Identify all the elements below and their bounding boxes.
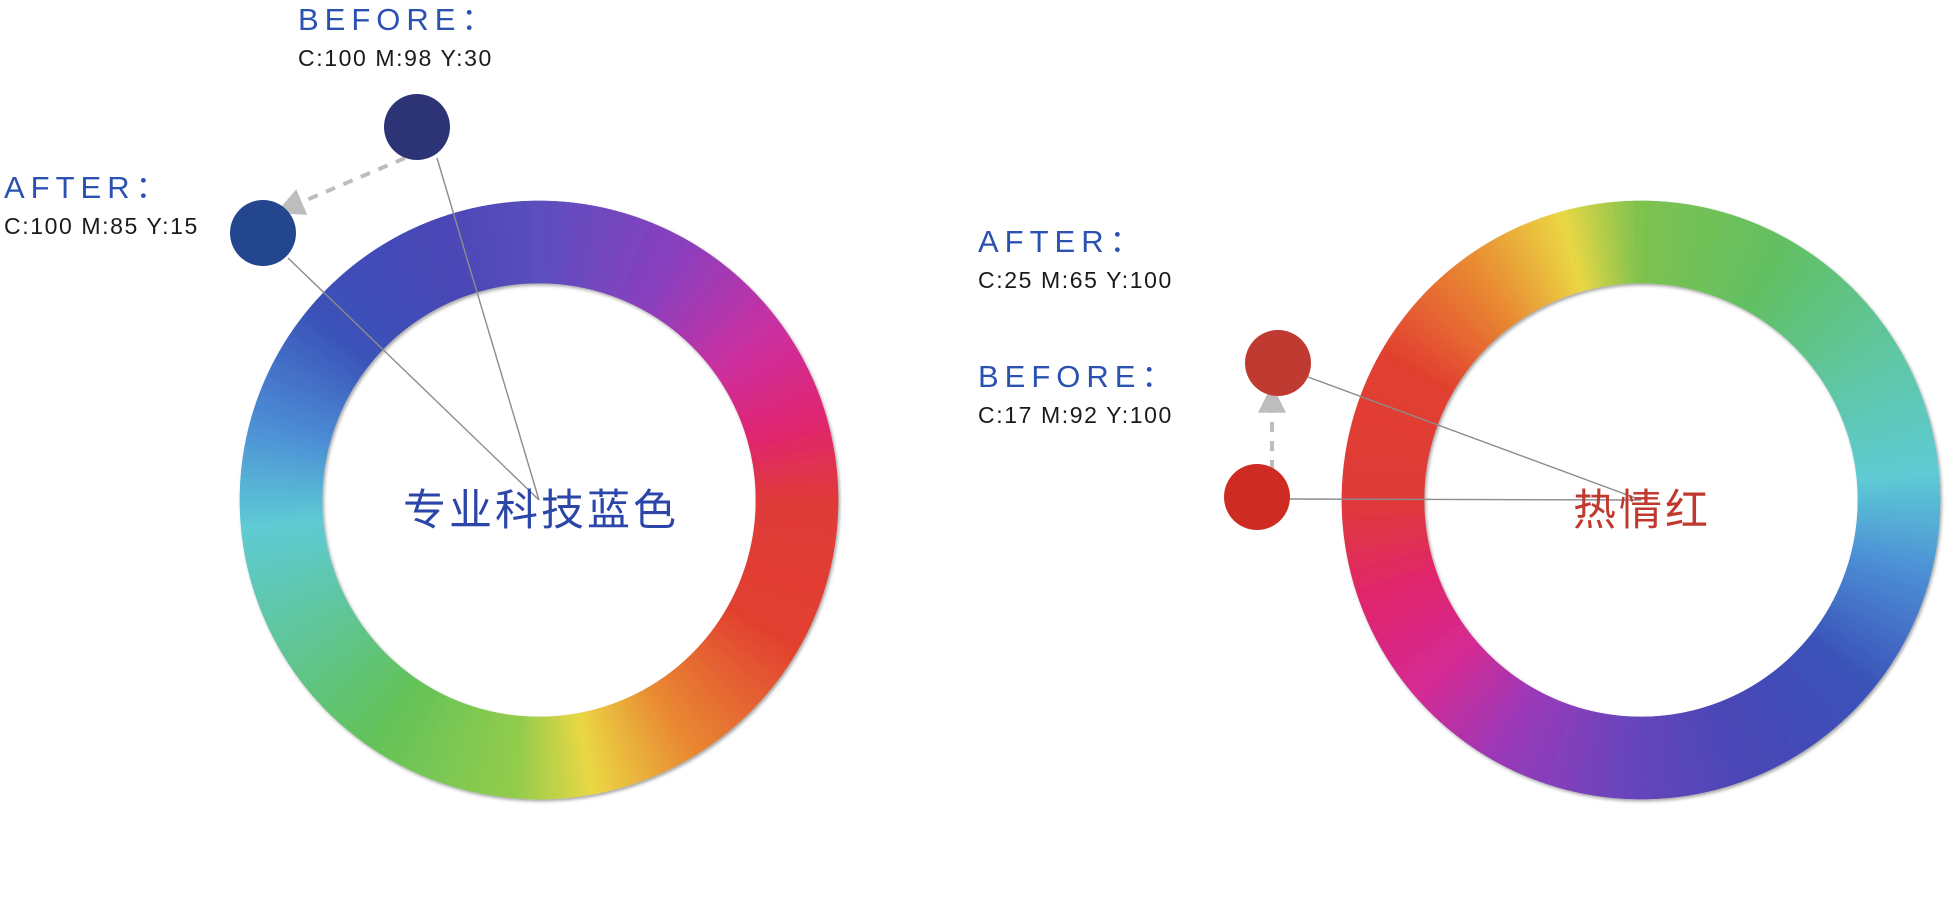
- annotation-red-before: BEFORE： C:17 M:92 Y:100: [978, 359, 1178, 429]
- annotation-blue-before: BEFORE： C:100 M:98 Y:30: [298, 2, 498, 72]
- color-wheel-comparison-canvas: BEFORE： C:100 M:98 Y:30 AFTER： C:100 M:8…: [0, 0, 1949, 919]
- label-heading-blue-before: BEFORE：: [298, 2, 498, 39]
- color-wheel-artwork: [0, 0, 1949, 919]
- label-heading-red-before: BEFORE：: [978, 359, 1178, 396]
- label-cmyk-red-before: C:17 M:92 Y:100: [978, 401, 1178, 430]
- swatch-dot-red-after[interactable]: [1245, 330, 1311, 396]
- label-cmyk-blue-before: C:100 M:98 Y:30: [298, 44, 498, 73]
- wheel-center-label-red: 热情红: [1573, 476, 1711, 538]
- label-heading-blue-after: AFTER：: [4, 170, 199, 207]
- swatch-dot-blue-before[interactable]: [384, 94, 450, 160]
- swatch-dot-blue-after[interactable]: [230, 200, 296, 266]
- swatch-dot-red-before[interactable]: [1224, 464, 1290, 530]
- label-heading-red-after: AFTER：: [978, 224, 1173, 261]
- annotation-blue-after: AFTER： C:100 M:85 Y:15: [4, 170, 199, 240]
- annotation-red-after: AFTER： C:25 M:65 Y:100: [978, 224, 1173, 294]
- label-cmyk-blue-after: C:100 M:85 Y:15: [4, 212, 199, 241]
- label-cmyk-red-after: C:25 M:65 Y:100: [978, 266, 1173, 295]
- blue-transition-arrow: [290, 158, 405, 207]
- wheel-center-label-blue: 专业科技蓝色: [403, 476, 679, 538]
